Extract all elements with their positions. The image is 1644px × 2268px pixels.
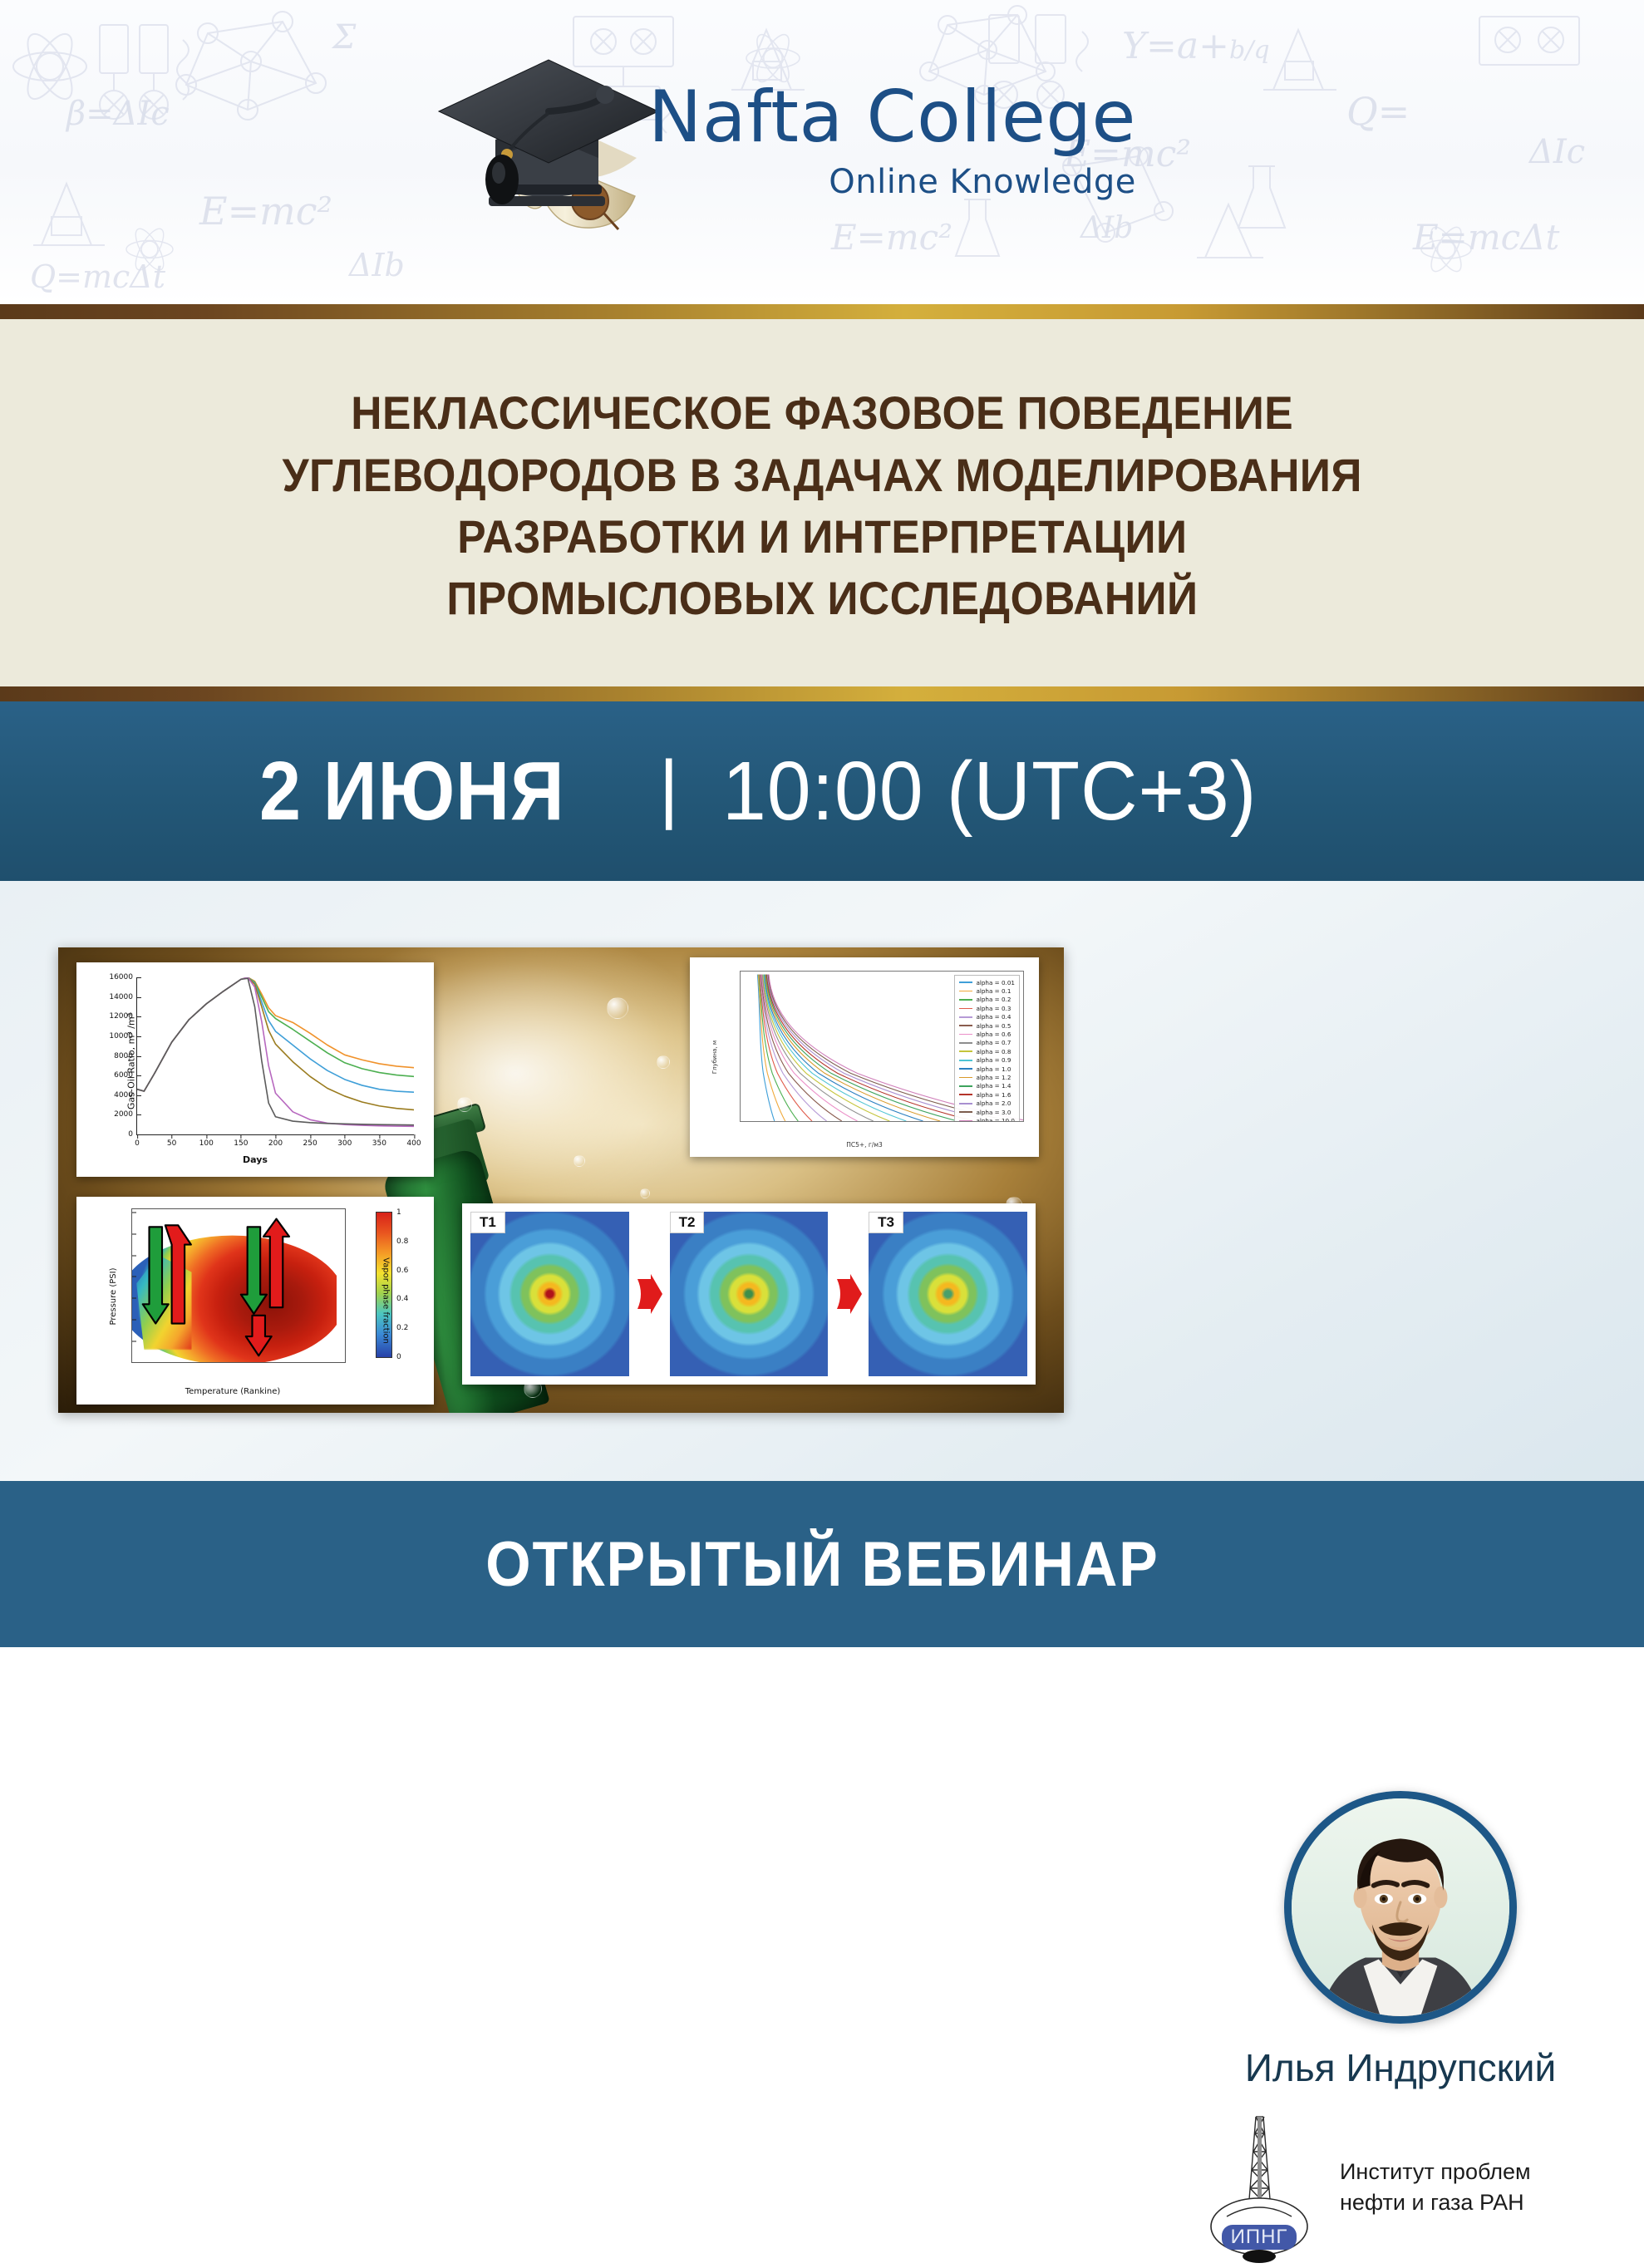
event-time: 10:00 (UTC+3) [722, 744, 1257, 839]
transition-arrow-1 [629, 1272, 670, 1316]
alpha-legend-swatch [959, 1111, 972, 1113]
contour-panel-t1: T1 [470, 1212, 629, 1376]
phase-y-tick: 3500 [131, 1230, 132, 1237]
alpha-legend-label: alpha = 0.1 [976, 987, 1011, 995]
alpha-plot-area: alpha = 0.01alpha = 0.1alpha = 0.2alpha … [740, 971, 1024, 1122]
gor-line-case-orange [137, 977, 414, 1091]
alpha-legend: alpha = 0.01alpha = 0.1alpha = 0.2alpha … [954, 975, 1020, 1122]
gold-divider-bottom [0, 686, 1644, 701]
contour-panel-t2: T2 [670, 1212, 829, 1376]
alpha-legend-row: alpha = 0.8 [959, 1047, 1015, 1055]
alpha-y-tick: 3700 [740, 1010, 741, 1017]
colorbar-tick: 0.4 [391, 1295, 408, 1303]
gor-line-case-blue [137, 977, 414, 1092]
brand-logo: NC Nafta College [432, 33, 1180, 241]
svg-text:ΔIb: ΔIb [347, 247, 405, 283]
contour-panel-t3: T3 [869, 1212, 1027, 1376]
title-line-4: ПРОМЫСЛОВЫХ ИССЛЕДОВАНИЙ [446, 568, 1198, 629]
main-content: Gas-Oil Ratio, m³ /m³ 0 2000 4000 6000 8… [0, 881, 1644, 1481]
institute-line-2: нефти и газа РАН [1340, 2187, 1531, 2217]
science-collage: Gas-Oil Ratio, m³ /m³ 0 2000 4000 6000 8… [58, 947, 1064, 1413]
gor-y-tick: 2000 [114, 1110, 137, 1119]
phase-y-tick: 2000 [131, 1294, 132, 1301]
alpha-legend-label: alpha = 0.01 [976, 979, 1015, 986]
gold-divider-top [0, 304, 1644, 319]
phase-y-tick: 500 [131, 1359, 132, 1364]
colorbar-tick: 1 [391, 1208, 401, 1217]
gor-x-tick: 100 [199, 1134, 214, 1148]
red-right-arrow-icon [634, 1272, 664, 1316]
alpha-legend-label: alpha = 2.0 [976, 1100, 1011, 1107]
alpha-legend-swatch [959, 1034, 972, 1036]
alpha-x-tick: 2500 [962, 1121, 977, 1122]
title-line-3: РАЗРАБОТКИ И ИНТЕРПРЕТАЦИИ [457, 506, 1187, 568]
colorbar-tick: 0.8 [391, 1237, 408, 1246]
alpha-legend-label: alpha = 0.5 [976, 1022, 1011, 1030]
alpha-legend-row: alpha = 0.9 [959, 1056, 1015, 1065]
alpha-legend-label: alpha = 0.9 [976, 1056, 1011, 1064]
alpha-legend-row: alpha = 0.1 [959, 986, 1015, 995]
alpha-legend-swatch [959, 981, 972, 983]
alpha-legend-label: alpha = 0.7 [976, 1039, 1011, 1046]
alpha-legend-swatch [959, 1060, 972, 1061]
alpha-legend-swatch [959, 999, 972, 1001]
alpha-y-tick: 3800 [740, 1045, 741, 1053]
phase-x-tick: 500 [151, 1362, 164, 1363]
alpha-legend-label: alpha = 10.0 [976, 1117, 1015, 1122]
svg-text:ΔIc: ΔIc [1528, 133, 1585, 171]
colorbar-label: Vapor phase fraction [381, 1257, 391, 1344]
gor-x-tick: 200 [268, 1134, 283, 1148]
bubble [640, 1188, 650, 1198]
alpha-x-axis-label: ПС5+, г/м3 [696, 1141, 1032, 1149]
colorbar-tick: 0.6 [391, 1267, 408, 1275]
alpha-curve-13 [766, 975, 975, 1121]
alpha-legend-row: alpha = 0.01 [959, 978, 1015, 986]
alpha-legend-swatch [959, 1042, 972, 1044]
alpha-legend-row: alpha = 0.7 [959, 1039, 1015, 1047]
gor-y-tick: 14000 [109, 993, 137, 1001]
alpha-legend-swatch [959, 1077, 972, 1079]
alpha-x-tick: 1500 [854, 1121, 870, 1122]
bubble [607, 997, 628, 1019]
svg-text:E=mc²: E=mc² [199, 189, 332, 234]
alpha-legend-swatch [959, 1068, 972, 1070]
transition-arrow-2 [828, 1272, 869, 1316]
gor-y-tick: 12000 [109, 1012, 137, 1021]
alpha-legend-swatch [959, 1025, 972, 1026]
footer-band: ОТКРЫТЫЙ ВЕБИНАР [0, 1481, 1644, 1647]
phase-direction-arrows [132, 1209, 345, 1362]
gor-x-tick: 300 [337, 1134, 352, 1148]
chart-phase-envelope: Pressure (PSI) [76, 1197, 434, 1405]
alpha-legend-row: alpha = 0.2 [959, 996, 1015, 1004]
gor-y-tick: 10000 [109, 1032, 137, 1041]
red-up-arrow-left [165, 1225, 191, 1323]
chart-gas-oil-ratio: Gas-Oil Ratio, m³ /m³ 0 2000 4000 6000 8… [76, 962, 434, 1177]
schedule-band: 2 ИЮНЯ | 10:00 (UTC+3) [0, 701, 1644, 881]
gor-x-tick: 250 [303, 1134, 317, 1148]
alpha-legend-swatch [959, 1094, 972, 1095]
alpha-legend-row: alpha = 0.3 [959, 1004, 1015, 1012]
gor-line-case-gray [137, 978, 414, 1124]
title-line-1: НЕКЛАССИЧЕСКОЕ ФАЗОВОЕ ПОВЕДЕНИЕ [351, 382, 1293, 444]
header-banner: E=mc² β=ΔIc Q=mcΔt ΔIb E=mc² E=mc² ΔIb Q… [0, 0, 1644, 304]
alpha-legend-label: alpha = 1.6 [976, 1091, 1011, 1099]
gor-x-tick: 350 [372, 1134, 386, 1148]
phase-x-tick: 700 [211, 1362, 224, 1363]
svg-text:Q=: Q= [1346, 89, 1410, 134]
green-down-arrow-left [143, 1227, 169, 1323]
alpha-legend-swatch [959, 1103, 972, 1104]
alpha-legend-swatch [959, 1085, 972, 1087]
contour-label-t1: T1 [470, 1212, 505, 1233]
phase-plot-area: 500 1000 1500 2000 2500 3000 3500 4000 5… [131, 1208, 346, 1363]
green-down-arrow-right [241, 1227, 267, 1314]
ipng-abbr: ИПНГ [1231, 2226, 1288, 2248]
colorbar-tick: 0.2 [391, 1324, 408, 1332]
alpha-y-tick: 3600 [740, 974, 741, 981]
alpha-y-tick: 3900 [740, 1079, 741, 1086]
institute-line-1: Институт проблем [1340, 2157, 1531, 2187]
schedule-separator: | [659, 745, 679, 832]
alpha-legend-label: alpha = 0.8 [976, 1048, 1011, 1055]
contour-label-t2: T2 [670, 1212, 705, 1233]
phase-x-tick: 900 [270, 1362, 283, 1363]
contour-image-t2 [670, 1212, 829, 1376]
alpha-legend-row: alpha = 1.6 [959, 1090, 1015, 1099]
alpha-legend-row: alpha = 0.5 [959, 1021, 1015, 1030]
alpha-legend-swatch [959, 1008, 972, 1010]
gor-series-lines [137, 977, 414, 1134]
alpha-legend-swatch [959, 1050, 972, 1052]
chart-pressure-contour-timesteps: T1 T2 [462, 1203, 1036, 1385]
alpha-legend-label: alpha = 0.2 [976, 996, 1011, 1003]
svg-text:β=ΔIc: β=ΔIc [65, 95, 170, 133]
gor-x-axis-label: Days [85, 1154, 426, 1165]
institute-row: ИПНГ Институт проблем нефти и газа РАН [1189, 2110, 1612, 2264]
phase-y-tick: 2500 [131, 1272, 132, 1280]
footer-label: ОТКРЫТЫЙ ВЕБИНАР [485, 1528, 1159, 1601]
alpha-legend-swatch [959, 1016, 972, 1018]
gor-plot-area: 0 2000 4000 6000 8000 10000 12000 14000 … [136, 977, 414, 1135]
alpha-x-tick: 2000 [908, 1121, 923, 1122]
alpha-legend-row: alpha = 1.0 [959, 1065, 1015, 1073]
gor-line-case-green [137, 977, 414, 1091]
gor-x-tick: 150 [234, 1134, 248, 1148]
phase-x-tick: 800 [241, 1362, 253, 1363]
contour-image-t1 [470, 1212, 629, 1376]
alpha-legend-label: alpha = 0.3 [976, 1005, 1011, 1012]
event-date: 2 ИЮНЯ [259, 744, 565, 839]
red-right-arrow-icon [834, 1272, 864, 1316]
gor-x-tick: 0 [135, 1134, 140, 1148]
portrait-illustration [1292, 1798, 1509, 2016]
phase-x-tick: 1000 [298, 1362, 315, 1363]
svg-text:Σ: Σ [331, 18, 357, 57]
alpha-legend-row: alpha = 2.0 [959, 1099, 1015, 1107]
alpha-y-tick: 4000 [740, 1110, 741, 1118]
gor-x-tick: 50 [167, 1134, 176, 1148]
gor-y-tick: 6000 [114, 1071, 137, 1080]
alpha-legend-label: alpha = 1.2 [976, 1074, 1011, 1081]
speaker-portrait [1284, 1791, 1517, 2024]
gor-x-tick: 400 [406, 1134, 421, 1148]
alpha-legend-swatch [959, 991, 972, 992]
colorbar-tick: 0 [391, 1353, 401, 1361]
contour-label-t3: T3 [869, 1212, 903, 1233]
alpha-curve-12 [766, 975, 957, 1121]
speaker-name: Илья Индрупский [1189, 2045, 1612, 2090]
contour-image-t3 [869, 1212, 1027, 1376]
alpha-legend-label: alpha = 0.6 [976, 1031, 1011, 1038]
alpha-legend-label: alpha = 0.4 [976, 1013, 1011, 1021]
alpha-legend-row: alpha = 0.6 [959, 1030, 1015, 1038]
oil-derrick-icon: ИПНГ [1203, 2110, 1328, 2264]
speaker-block: Илья Индрупский [1189, 1791, 1612, 2264]
chart-alpha-depth-profiles: Глубина, м alpha = 0.01alpha = 0.1alpha … [690, 957, 1039, 1157]
gor-line-case-olive [137, 977, 414, 1109]
gor-y-tick: 4000 [114, 1091, 137, 1100]
alpha-x-tick: 3000 [1012, 1121, 1024, 1122]
bubble [457, 1097, 472, 1112]
alpha-legend-label: alpha = 1.0 [976, 1065, 1011, 1073]
alpha-legend-label: alpha = 1.4 [976, 1082, 1011, 1090]
bubble [573, 1155, 585, 1167]
alpha-y-axis-label: Глубина, м [711, 1041, 718, 1074]
svg-text:E=mcΔt: E=mcΔt [1412, 217, 1560, 258]
graduation-cap-icon: NC [432, 42, 673, 233]
webinar-poster: E=mc² β=ΔIc Q=mcΔt ΔIb E=mc² E=mc² ΔIb Q… [0, 0, 1644, 1647]
alpha-legend-row: alpha = 1.4 [959, 1082, 1015, 1090]
svg-text:Q=mcΔt: Q=mcΔt [30, 258, 166, 295]
phase-y-tick: 4000 [131, 1208, 132, 1216]
phase-y-tick: 1000 [131, 1337, 132, 1345]
bubble [657, 1055, 670, 1069]
institute-name: Институт проблем нефти и газа РАН [1340, 2157, 1531, 2217]
red-down-arrow-bottom [246, 1316, 272, 1355]
alpha-legend-row: alpha = 1.2 [959, 1073, 1015, 1081]
gor-y-tick: 16000 [109, 973, 137, 981]
alpha-legend-label: alpha = 3.0 [976, 1109, 1011, 1116]
phase-x-axis-label: Temperature (Rankine) [116, 1387, 349, 1396]
phase-y-axis-label: Pressure (PSI) [109, 1268, 118, 1326]
alpha-curve-6 [762, 975, 858, 1121]
alpha-legend-row: alpha = 0.4 [959, 1013, 1015, 1021]
alpha-curve-11 [765, 975, 940, 1121]
gor-y-tick: 8000 [114, 1052, 137, 1060]
ipng-logo: ИПНГ [1203, 2110, 1328, 2264]
title-band: НЕКЛАССИЧЕСКОЕ ФАЗОВОЕ ПОВЕДЕНИЕ УГЛЕВОД… [0, 319, 1644, 686]
brand-name: Nafta College [648, 81, 1136, 153]
phase-x-tick: 1100 [328, 1362, 345, 1363]
title-line-2: УГЛЕВОДОРОДОВ В ЗАДАЧАХ МОДЕЛИРОВАНИЯ [282, 445, 1361, 506]
alpha-legend-row: alpha = 3.0 [959, 1108, 1015, 1116]
alpha-x-tick: 1000 [800, 1121, 816, 1122]
phase-y-tick: 3000 [131, 1252, 132, 1259]
alpha-x-tick: 500 [751, 1121, 763, 1122]
brand-tagline: Online Knowledge [648, 163, 1136, 201]
phase-x-tick: 600 [181, 1362, 194, 1363]
phase-y-tick: 1500 [131, 1316, 132, 1323]
